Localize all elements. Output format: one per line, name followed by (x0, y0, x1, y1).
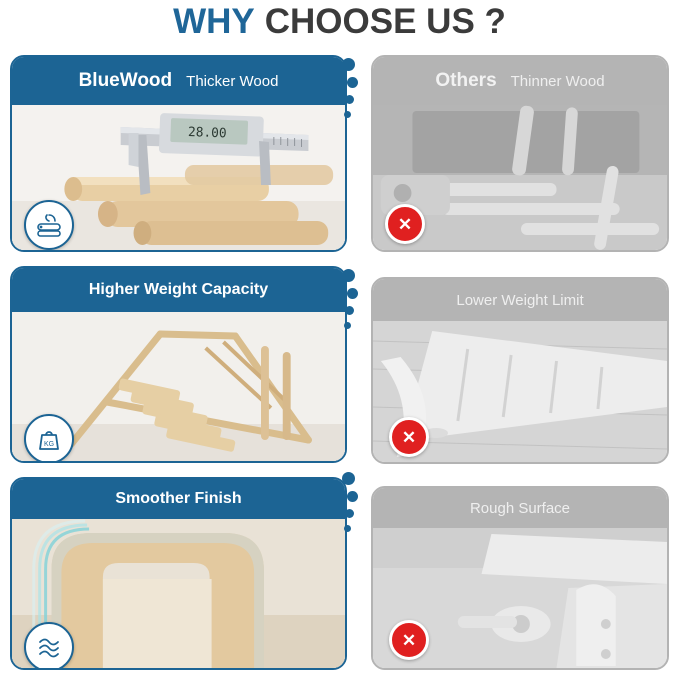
page-title: WHY CHOOSE US ? (0, 0, 679, 44)
dot (344, 322, 351, 329)
feature-label: Smoother Finish (115, 490, 241, 508)
dot (345, 509, 354, 518)
page-title-highlight: WHY (173, 2, 255, 42)
dots-row-3 (336, 470, 364, 542)
weight-bag-icon: KG (24, 414, 74, 463)
feature-label: Thicker Wood (186, 73, 278, 90)
dot (345, 95, 354, 104)
smooth-waves-icon (24, 622, 74, 670)
card-theirs-weight-limit-header: Lower Weight Limit (373, 279, 667, 321)
x-icon: ✕ (385, 204, 425, 244)
card-ours-thicker-wood-header: BlueWood Thicker Wood (12, 57, 345, 105)
dot (342, 269, 355, 282)
dots-row-2 (336, 267, 364, 339)
weight-bag-glyph: KG (37, 426, 61, 452)
dot (344, 525, 351, 532)
brand-label: Others (435, 70, 496, 92)
dot (345, 306, 354, 315)
card-ours-weight-capacity: Higher Weight Capacity (10, 266, 347, 463)
x-icon: ✕ (389, 620, 429, 660)
smooth-waves-glyph (36, 635, 62, 659)
feature-label: Thinner Wood (511, 73, 605, 90)
dot (342, 58, 355, 71)
dot (347, 77, 358, 88)
card-ours-weight-capacity-header: Higher Weight Capacity (12, 268, 345, 312)
dot (342, 472, 355, 485)
card-theirs-weight-limit: Lower Weight Limit ✕ (371, 277, 669, 464)
card-theirs-thinner-wood: Others Thinner Wood ✕ (371, 55, 669, 252)
x-icon: ✕ (389, 417, 429, 457)
wood-logs-glyph (36, 212, 62, 238)
card-ours-thicker-wood: BlueWood Thicker Wood (10, 55, 347, 252)
dot (344, 111, 351, 118)
dot (347, 491, 358, 502)
brand-label: BlueWood (79, 70, 173, 92)
card-ours-smoother-finish: Smoother Finish (10, 477, 347, 670)
feature-label: Higher Weight Capacity (89, 281, 268, 299)
card-theirs-thinner-wood-header: Others Thinner Wood (373, 57, 667, 105)
wood-logs-icon (24, 200, 74, 250)
page-title-rest: CHOOSE US ? (265, 2, 506, 42)
card-theirs-rough-surface: Rough Surface ✕ (371, 486, 669, 670)
card-ours-smoother-finish-header: Smoother Finish (12, 479, 345, 519)
dots-row-1 (336, 56, 364, 128)
feature-label: Rough Surface (470, 500, 570, 517)
svg-text:KG: KG (44, 441, 54, 448)
card-theirs-rough-surface-header: Rough Surface (373, 488, 667, 528)
svg-text:28.00: 28.00 (188, 125, 227, 141)
dot (347, 288, 358, 299)
feature-label: Lower Weight Limit (456, 292, 583, 309)
